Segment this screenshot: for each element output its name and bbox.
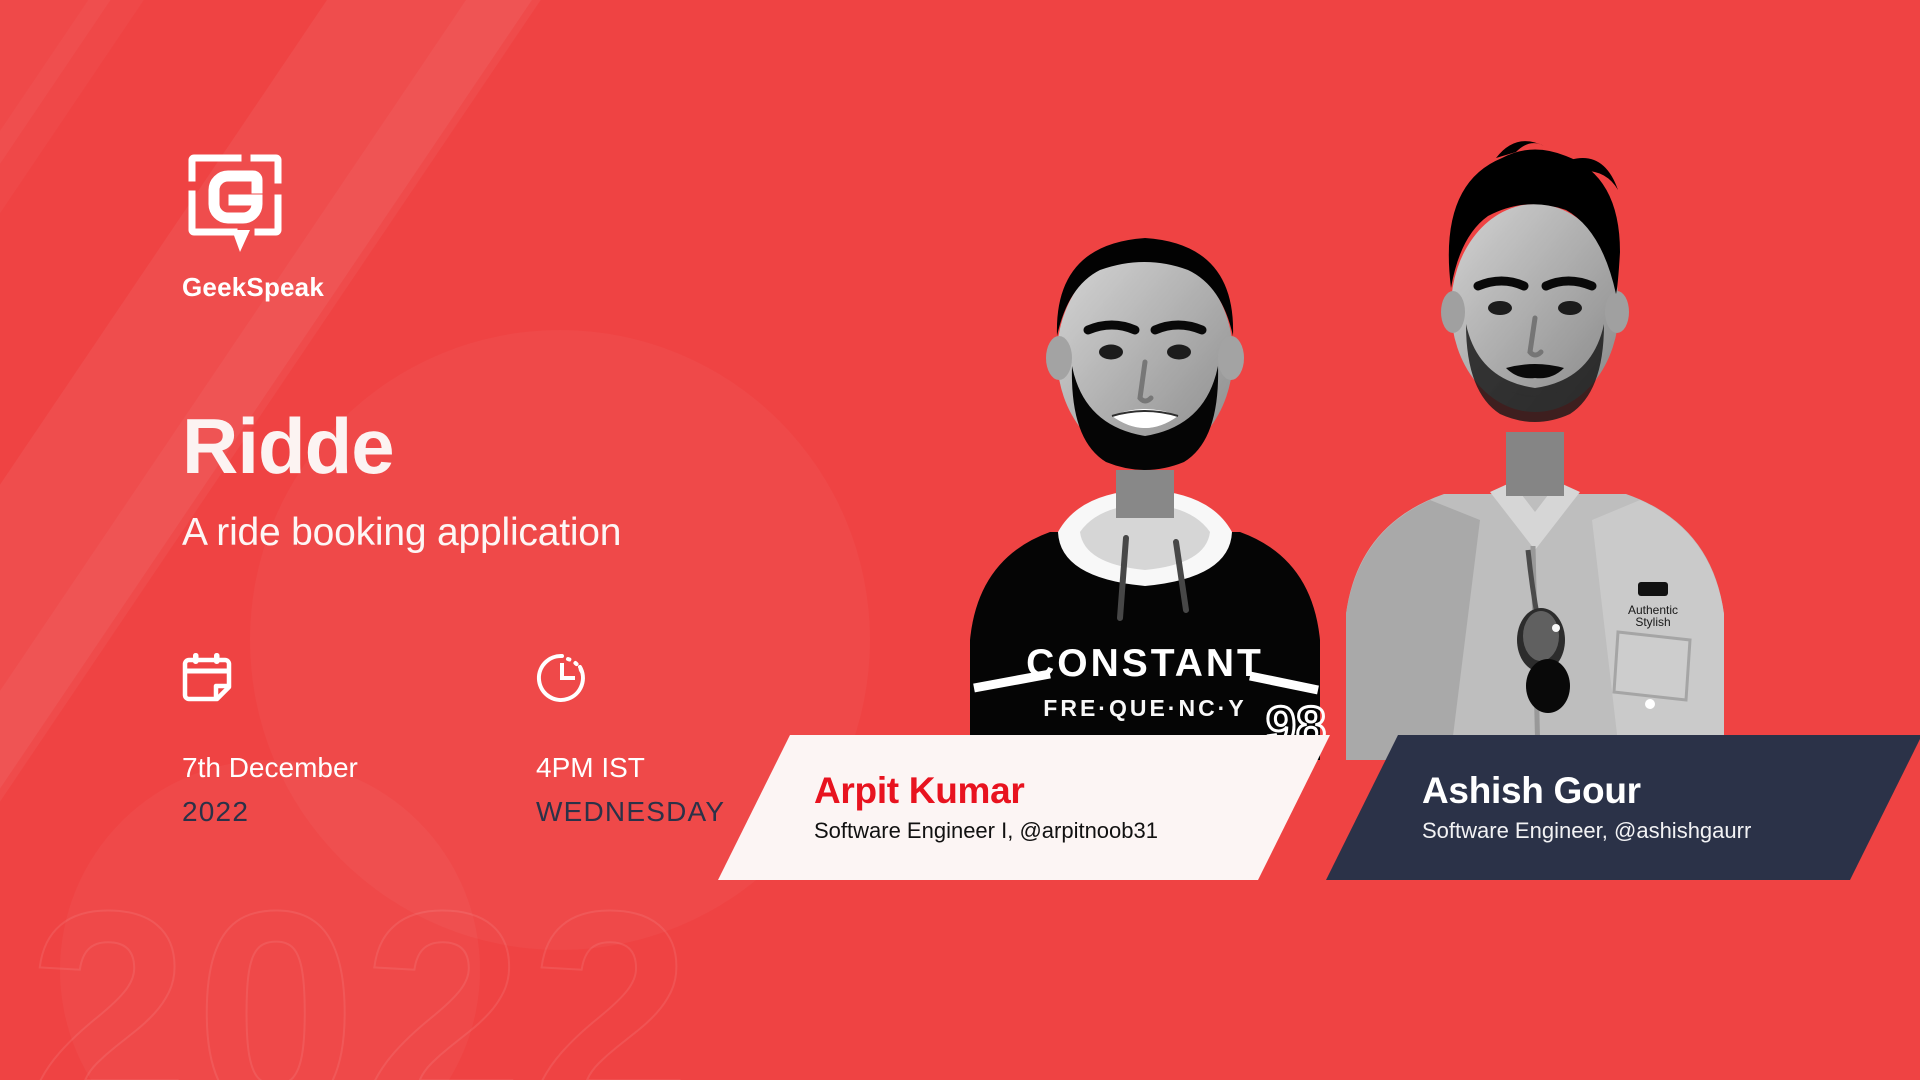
svg-text:FRE·QUE·NC·Y: FRE·QUE·NC·Y: [1043, 695, 1246, 721]
speaker-role: Software Engineer, @ashishgaurr: [1422, 818, 1902, 844]
speaker-photos: CONSTANT FRE·QUE·NC·Y 98: [800, 0, 1920, 760]
event-time-block: 4PM IST WEDNESDAY: [536, 652, 766, 831]
speakers-section: CONSTANT FRE·QUE·NC·Y 98: [800, 0, 1920, 1080]
event-date-primary: 7th December: [182, 750, 412, 786]
speaker-card-arpit-kumar: Arpit Kumar Software Engineer I, @arpitn…: [690, 735, 1330, 880]
speaker-photo-ashish-gour: Authentic Stylish: [1320, 80, 1750, 760]
poster-left-content: GeekSpeak Ridde A ride booking applicati…: [182, 148, 902, 831]
calendar-icon: [182, 652, 412, 708]
event-subtitle: A ride booking application: [182, 511, 902, 556]
event-date-secondary: 2022: [182, 794, 412, 830]
speaker-role: Software Engineer I, @arpitnoob31: [814, 818, 1306, 844]
event-date-block: 7th December 2022: [182, 652, 412, 831]
event-poster: 2022 GeekSpeak Ridde A ride booking: [0, 0, 1920, 1080]
event-title: Ridde: [182, 407, 902, 485]
svg-text:Stylish: Stylish: [1635, 615, 1670, 629]
event-time-primary: 4PM IST: [536, 750, 766, 786]
event-time-secondary: WEDNESDAY: [536, 794, 766, 830]
year-watermark: 2022: [28, 868, 697, 1080]
svg-text:CONSTANT: CONSTANT: [1026, 642, 1264, 685]
speaker-name-cards: Arpit Kumar Software Engineer I, @arpitn…: [800, 735, 1920, 880]
speaker-name: Arpit Kumar: [814, 771, 1306, 812]
brand-block: GeekSpeak: [182, 148, 902, 303]
speaker-name: Ashish Gour: [1422, 771, 1902, 812]
clock-icon: [536, 652, 766, 708]
speaker-card-ashish-gour: Ashish Gour Software Engineer, @ashishga…: [1322, 735, 1920, 880]
brand-name: GeekSpeak: [182, 272, 902, 303]
speaker-photo-arpit-kumar: CONSTANT FRE·QUE·NC·Y 98: [930, 140, 1360, 760]
speech-bubble-g-logo-icon: [182, 148, 290, 256]
